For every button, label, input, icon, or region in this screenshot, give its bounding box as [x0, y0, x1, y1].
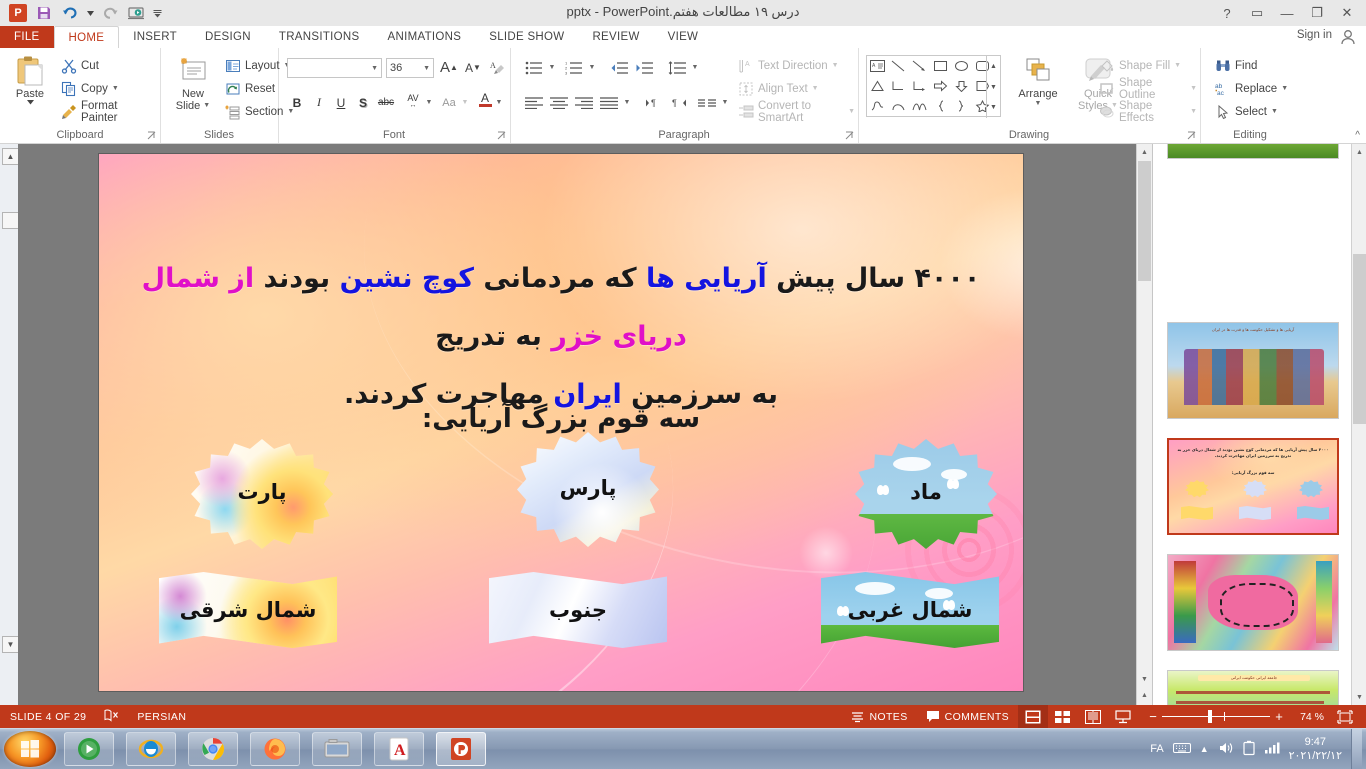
tab-slide-show[interactable]: SLIDE SHOW [475, 26, 578, 48]
zoom-slider[interactable]: − + [1138, 709, 1294, 724]
rail-scroll-up-button[interactable]: ▲ [2, 148, 19, 165]
arrange-caret-icon[interactable]: ▼ [1035, 100, 1042, 107]
font-color-label: A [481, 92, 489, 104]
font-dialog-launcher[interactable] [497, 131, 506, 140]
star-label-parth: پارت [238, 480, 287, 504]
notes-icon [851, 710, 864, 723]
slide-sorter-view-button[interactable] [1048, 705, 1078, 728]
editing-group-label: Editing [1200, 129, 1300, 141]
zoom-midpoint-tick [1224, 712, 1225, 721]
smartart-caret-icon[interactable]: ▼ [848, 108, 855, 115]
change-case-caret-icon[interactable]: ▼ [460, 92, 470, 113]
shape-outline-button[interactable]: Shape Outline ▼ [1096, 78, 1200, 99]
shape-effects-button[interactable]: Shape Effects ▼ [1096, 101, 1200, 122]
shapes-gallery-scrollbar[interactable]: ▲ ▼ ▼ [986, 56, 1000, 118]
restore-button[interactable]: ❐ [1302, 2, 1332, 24]
thumbnail-slide-3[interactable]: آریایی ها و تشکیل حکومت ها و قدرت ها در … [1167, 322, 1339, 419]
shape-elbow-connector[interactable] [888, 76, 909, 96]
battery-icon[interactable] [1243, 740, 1255, 759]
slides-group-label: Slides [160, 129, 278, 141]
columns-caret-icon[interactable]: ▼ [719, 92, 731, 113]
align-text-icon [738, 81, 754, 97]
slide-stage: ۴۰۰۰ سال پیش آریایی ها که مردمانی کوچ نش… [18, 144, 1152, 705]
shrink-font-label: A [465, 61, 473, 75]
tab-animations[interactable]: ANIMATIONS [374, 26, 476, 48]
shape-fill-button[interactable]: Shape Fill ▼ [1096, 55, 1184, 76]
line1-seg-2: که مردمانی [474, 263, 646, 294]
taskbar-powerpoint[interactable] [436, 732, 486, 766]
window-controls: ? ▭ — ❐ ✕ [1212, 2, 1362, 24]
ribbon-tab-bar: FILE HOME INSERT DESIGN TRANSITIONS ANIM… [0, 26, 1366, 49]
reset-icon [225, 81, 241, 97]
thumbnail-image: آریایی ها و تشکیل حکومت ها و قدرت ها در … [1168, 323, 1338, 418]
banner-shape-south[interactable]: جنوب [489, 572, 667, 648]
font-name-input[interactable]: ▼ [287, 58, 382, 78]
status-left: SLIDE 4 OF 29 PERSIAN [10, 705, 186, 728]
section-icon [225, 104, 241, 120]
zoom-level-label[interactable]: 74 % [1294, 711, 1330, 723]
zoom-track[interactable] [1162, 716, 1270, 717]
select-caret-icon[interactable]: ▼ [1271, 108, 1278, 115]
shape-arrow[interactable] [909, 56, 930, 76]
minimize-button[interactable]: — [1272, 2, 1302, 24]
cut-label: Cut [81, 60, 99, 72]
format-painter-label: Format Painter [81, 100, 157, 124]
thumbnail-subcaption: سه قوم بزرگ آریایی: [1175, 470, 1331, 476]
character-spacing-button[interactable]: AV ↔ [401, 90, 425, 111]
powerpoint-window: P درس ۱۹ مطالعات هفتم.pptx - PowerPoint [0, 0, 1366, 768]
star-label-pars: پارس [560, 476, 617, 500]
slide-scroll-thumb[interactable] [1138, 161, 1151, 281]
copy-icon [61, 81, 77, 97]
font-size-input[interactable]: 36 ▼ [386, 58, 434, 78]
comments-label: COMMENTS [945, 711, 1009, 723]
account-avatar-icon[interactable] [1338, 27, 1358, 47]
taskbar-file-explorer[interactable] [312, 732, 362, 766]
shape-scribble[interactable] [867, 96, 888, 116]
shapes-more-icon[interactable]: ▼ [987, 97, 1000, 118]
shape-oval[interactable] [951, 56, 972, 76]
svg-text:A: A [872, 63, 876, 69]
zoom-in-button[interactable]: + [1270, 709, 1288, 724]
align-text-caret-icon[interactable]: ▼ [812, 85, 819, 92]
justify-button[interactable] [597, 92, 621, 113]
smartart-icon [738, 104, 754, 120]
line-spacing-caret-icon[interactable]: ▼ [689, 57, 701, 78]
thumbnail-image [1168, 144, 1338, 158]
thumbnail-caption: ۴۰۰۰ سال پیش آریایی ها که مردمانی کوچ نش… [1175, 447, 1331, 459]
taskbar-mozilla-firefox[interactable] [250, 732, 300, 766]
font-color-button[interactable]: A [476, 89, 494, 110]
select-button[interactable]: Select ▼ [1212, 101, 1281, 122]
sign-in-link[interactable]: Sign in [1297, 29, 1332, 41]
clock-date: ۲۰۲۱/۲۲/۱۲ [1289, 749, 1342, 763]
new-slide-button[interactable]: New Slide ▼ [168, 56, 218, 112]
font-size-caret-icon[interactable]: ▼ [423, 65, 430, 72]
window-title: درس ۱۹ مطالعات هفتم.pptx - PowerPoint [0, 4, 1366, 20]
collapse-ribbon-button[interactable]: ^ [1355, 130, 1360, 141]
banner-shape-northwest[interactable]: شمال غربی [821, 572, 999, 648]
tab-transitions[interactable]: TRANSITIONS [265, 26, 374, 48]
thumbnail-slide-4[interactable]: ۴۰۰۰ سال پیش آریایی ها که مردمانی کوچ نش… [1167, 438, 1339, 535]
language-indicator-tray[interactable]: FA [1150, 743, 1163, 755]
font-size-value: 36 [390, 62, 423, 74]
taskbar-windows-media-player[interactable] [64, 732, 114, 766]
shape-rectangle[interactable] [930, 56, 951, 76]
italic-button[interactable]: I [309, 92, 329, 113]
paintbrush-icon [61, 104, 77, 120]
font-group-label: Font [278, 129, 510, 141]
thumbnail-slide-2[interactable] [1167, 144, 1339, 159]
taskbar-clock[interactable]: 9:47 ۲۰۲۱/۲۲/۱۲ [1289, 735, 1342, 763]
shapes-gallery[interactable]: A [866, 55, 1001, 117]
slide-scroll-bottom-group: ▼ ▲ [1137, 671, 1152, 705]
ribbon-group-slides: New Slide ▼ Layout ▼ Reset [160, 48, 279, 143]
thumbnail-slide-5[interactable] [1167, 554, 1339, 651]
cut-button[interactable]: Cut [58, 55, 102, 76]
text-direction-caret-icon[interactable]: ▼ [832, 62, 839, 69]
slide-line-1: ۴۰۰۰ سال پیش آریایی ها که مردمانی کوچ نش… [123, 250, 999, 366]
status-right: NOTES COMMENTS − [842, 705, 1360, 728]
taskbar-google-chrome[interactable] [188, 732, 238, 766]
rail-scroll-down-button[interactable]: ▼ [2, 636, 19, 653]
ribbon-group-clipboard: Paste Cut Copy ▼ Format Painte [0, 48, 161, 143]
svg-text:A: A [394, 742, 406, 759]
line1-seg-6: به تدریج [435, 321, 551, 352]
shape-arc[interactable] [909, 96, 930, 116]
scissors-icon [61, 58, 77, 74]
select-label: Select [1235, 106, 1267, 118]
drawing-dialog-launcher[interactable] [1187, 131, 1196, 140]
show-hidden-icons-button[interactable]: ▲ [1200, 744, 1209, 754]
thumbnail-image: جامعه ایرانی حکومت ایرانی [1168, 671, 1338, 705]
thumbnail-scroll-thumb[interactable] [1353, 254, 1366, 424]
line1-seg-3: کوچ نشین [340, 263, 474, 294]
shape-curve[interactable] [888, 96, 909, 116]
line1-seg-1: آریایی ها [646, 263, 767, 294]
replace-label: Replace [1235, 83, 1277, 95]
font-color-caret-icon[interactable]: ▼ [494, 92, 504, 113]
help-button[interactable]: ? [1212, 2, 1242, 24]
close-button[interactable]: ✕ [1332, 2, 1362, 24]
increase-indent-button[interactable] [632, 57, 656, 78]
network-icon[interactable] [1264, 741, 1280, 757]
thumbnail-image [1168, 555, 1338, 650]
numbering-button[interactable]: 123 [562, 57, 586, 78]
thumbnail-caption: جامعه ایرانی حکومت ایرانی [1198, 675, 1310, 681]
convert-to-smartart-button[interactable]: Convert to SmartArt ▼ [735, 101, 858, 122]
system-tray: FA ▲ 9:47 ۲۰۲۱/۲۲/۱۲ [1150, 729, 1366, 769]
new-slide-label-2: Slide [176, 100, 200, 112]
left-rail: ▲ ▼ [0, 144, 19, 705]
bold-button[interactable]: B [287, 92, 307, 113]
shape-line[interactable] [888, 56, 909, 76]
svg-text:ab: ab [1215, 83, 1223, 90]
ribbon-group-paragraph: ▼ 123 ▼ ▼ [510, 48, 859, 143]
reading-view-button[interactable] [1078, 705, 1108, 728]
shape-down-arrow[interactable] [951, 76, 972, 96]
svg-text:¶: ¶ [672, 98, 677, 108]
ribbon-group-editing: Find abac Replace ▼ Select ▼ Editing [1200, 48, 1300, 143]
status-bar: SLIDE 4 OF 29 PERSIAN NOTES COMMENTS [0, 705, 1366, 728]
align-right-button[interactable] [572, 92, 596, 113]
justify-caret-icon[interactable]: ▼ [621, 92, 633, 113]
svg-text:ac: ac [1217, 90, 1225, 97]
title-bar: P درس ۱۹ مطالعات هفتم.pptx - PowerPoint [0, 0, 1366, 26]
zoom-thumb[interactable] [1208, 710, 1212, 723]
tab-view[interactable]: VIEW [654, 26, 713, 48]
shape-textbox[interactable]: A [867, 56, 888, 76]
paragraph-dialog-launcher[interactable] [845, 131, 854, 140]
line1-seg-4: بودند [254, 263, 339, 294]
slide-vertical-scrollbar[interactable]: ▲ ▼ ▲ [1136, 144, 1152, 705]
find-label: Find [1235, 60, 1257, 72]
copy-button[interactable]: Copy ▼ [58, 78, 122, 99]
thumbnail-slide-6[interactable]: جامعه ایرانی حکومت ایرانی [1167, 670, 1339, 705]
taskbar-internet-explorer[interactable] [126, 732, 176, 766]
shape-outline-caret-icon[interactable]: ▼ [1190, 85, 1197, 92]
banner-label-south: جنوب [549, 598, 607, 622]
svg-text:3: 3 [565, 70, 568, 75]
font-name-caret-icon[interactable]: ▼ [371, 65, 378, 72]
ribbon-display-options-button[interactable]: ▭ [1242, 2, 1272, 24]
thumbnail-image: ۴۰۰۰ سال پیش آریایی ها که مردمانی کوچ نش… [1169, 440, 1337, 533]
slide-canvas[interactable]: ۴۰۰۰ سال پیش آریایی ها که مردمانی کوچ نش… [99, 154, 1023, 691]
binoculars-icon [1215, 58, 1231, 74]
shapes-scroll-down-icon[interactable]: ▼ [987, 77, 1000, 98]
fit-slide-to-window-button[interactable] [1330, 705, 1360, 728]
text-shadow-button[interactable]: S [353, 92, 373, 113]
bullets-button[interactable] [522, 57, 546, 78]
text-direction-button[interactable]: A Text Direction ▼ [735, 55, 842, 76]
clock-time: 9:47 [1305, 735, 1326, 749]
slide-previous-next-icon[interactable]: ▲ [1137, 687, 1152, 703]
slide-counter[interactable]: SLIDE 4 OF 29 [10, 711, 86, 723]
find-button[interactable]: Find [1212, 55, 1260, 76]
slideshow-view-button[interactable] [1108, 705, 1138, 728]
notes-button[interactable]: NOTES [842, 705, 916, 728]
convert-to-smartart-label: Convert to SmartArt [758, 100, 844, 124]
copy-label: Copy [81, 83, 108, 95]
reset-label: Reset [245, 83, 275, 95]
format-painter-button[interactable]: Format Painter [58, 101, 160, 122]
shape-right-arrow[interactable] [930, 76, 951, 96]
star-shape-pars[interactable]: پارس [517, 432, 659, 547]
thumbnail-pane-scrollbar[interactable]: ▲ ▼ [1351, 144, 1366, 705]
paste-dropdown-caret-icon [26, 100, 35, 105]
strikethrough-button[interactable]: abc [373, 92, 399, 113]
tab-review[interactable]: REVIEW [578, 26, 653, 48]
text-direction-icon: A [738, 58, 754, 74]
clipboard-dialog-launcher[interactable] [147, 131, 156, 140]
spellcheck-icon[interactable] [104, 709, 119, 725]
butterfly-icon [947, 479, 959, 489]
zoom-out-button[interactable]: − [1144, 709, 1162, 724]
shape-fill-icon [1099, 58, 1115, 74]
thumbnail-caption: آریایی ها و تشکیل حکومت ها و قدرت ها در … [1172, 327, 1334, 333]
ltr-text-direction-button[interactable]: ¶ [642, 92, 666, 113]
cloud-shape [855, 582, 895, 595]
star-shape-parth[interactable]: پارت [191, 439, 333, 549]
ribbon: Paste Cut Copy ▼ Format Painte [0, 48, 1366, 144]
thumbnail-scroll-down-icon[interactable]: ▼ [1352, 689, 1366, 705]
ribbon-group-font: ▼ 36 ▼ A ▲ A ▼ A B I U S abc AV [278, 48, 511, 143]
increase-font-size-button[interactable]: A ▲ [438, 57, 460, 78]
volume-icon[interactable] [1218, 741, 1234, 758]
copy-dropdown-caret-icon[interactable]: ▼ [112, 85, 119, 92]
slide-scroll-down-icon[interactable]: ▼ [1137, 671, 1152, 687]
layout-label: Layout [245, 60, 280, 72]
clipboard-group-label: Clipboard [0, 129, 160, 141]
line-spacing-button[interactable] [665, 57, 689, 78]
show-desktop-button[interactable] [1351, 729, 1362, 769]
rail-placeholder-button[interactable] [2, 212, 19, 229]
align-text-button[interactable]: Align Text ▼ [735, 78, 822, 99]
character-spacing-caret-icon[interactable]: ▼ [424, 92, 434, 113]
tab-file[interactable]: FILE [0, 26, 54, 48]
ribbon-group-drawing: A [858, 48, 1201, 143]
language-indicator[interactable]: PERSIAN [137, 711, 186, 723]
numbering-caret-icon[interactable]: ▼ [586, 57, 598, 78]
slide-subheading[interactable]: سه قوم بزرگ آریایی: [123, 404, 999, 434]
align-text-label: Align Text [758, 83, 808, 95]
decrease-font-size-button[interactable]: A ▼ [462, 57, 484, 78]
banner-label-northwest: شمال غربی [848, 598, 973, 622]
keyboard-icon[interactable] [1173, 742, 1191, 757]
slide-thumbnail-pane[interactable]: آریایی ها و تشکیل حکومت ها و قدرت ها در … [1152, 144, 1366, 705]
slide-scroll-up-icon[interactable]: ▲ [1137, 144, 1152, 160]
shape-elbow-arrow[interactable] [909, 76, 930, 96]
tab-insert[interactable]: INSERT [119, 26, 191, 48]
arrange-label: Arrange [1018, 88, 1057, 100]
columns-button[interactable] [695, 92, 719, 113]
workspace: ▲ ▼ ۴۰۰۰ سال پیش آریایی ها که مردمانی کو… [0, 144, 1366, 705]
new-slide-caret-icon[interactable]: ▼ [203, 100, 210, 112]
svg-text:¶: ¶ [651, 98, 656, 108]
normal-view-button[interactable] [1018, 705, 1048, 728]
replace-icon: abac [1215, 81, 1231, 97]
new-slide-label-1: New [182, 88, 204, 100]
shape-fill-label: Shape Fill [1119, 60, 1170, 72]
align-left-button[interactable] [522, 92, 546, 113]
cursor-icon [1215, 104, 1231, 120]
notes-label: NOTES [869, 711, 907, 723]
arrange-button[interactable]: Arrange ▼ [1010, 56, 1066, 107]
comment-icon [926, 710, 940, 723]
shape-outline-icon [1099, 81, 1115, 97]
svg-text:A: A [490, 61, 496, 70]
replace-caret-icon[interactable]: ▼ [1281, 85, 1288, 92]
tab-home[interactable]: HOME [54, 26, 120, 49]
star-shape-mad[interactable]: ماد [855, 439, 997, 549]
underline-button[interactable]: U [331, 92, 351, 113]
banner-label-northeast: شمال شرقی [180, 598, 317, 622]
grow-font-label: A [440, 59, 450, 76]
shapes-scroll-up-icon[interactable]: ▲ [987, 56, 1000, 77]
cloud-shape [893, 457, 931, 471]
drawing-group-label: Drawing [858, 129, 1200, 141]
windows-taskbar: A FA ▲ 9:47 ۲۰۲۱/۲۲/۱۲ [0, 728, 1366, 769]
shape-effects-label: Shape Effects [1119, 100, 1186, 124]
rtl-text-direction-button[interactable]: ¶ [667, 92, 691, 113]
paste-button[interactable]: Paste [6, 54, 54, 105]
reset-button[interactable]: Reset [222, 78, 278, 99]
comments-button[interactable]: COMMENTS [917, 705, 1018, 728]
butterfly-icon [877, 485, 889, 495]
shape-effects-caret-icon[interactable]: ▼ [1190, 108, 1197, 115]
slide-paragraph[interactable]: ۴۰۰۰ سال پیش آریایی ها که مردمانی کوچ نش… [123, 250, 999, 424]
paste-label: Paste [16, 88, 44, 100]
shape-right-brace[interactable] [951, 96, 972, 116]
taskbar-adobe-reader[interactable]: A [374, 732, 424, 766]
align-center-button[interactable] [547, 92, 571, 113]
bullets-caret-icon[interactable]: ▼ [546, 57, 558, 78]
shape-effects-icon [1099, 104, 1115, 120]
clear-formatting-button[interactable]: A [486, 57, 508, 78]
paragraph-group-label: Paragraph [510, 129, 858, 141]
replace-button[interactable]: abac Replace ▼ [1212, 78, 1291, 99]
shape-fill-caret-icon[interactable]: ▼ [1174, 62, 1181, 69]
decrease-indent-button[interactable] [607, 57, 631, 78]
shape-left-brace[interactable] [930, 96, 951, 116]
svg-text:A: A [745, 61, 750, 68]
ribbon-tabs: FILE HOME INSERT DESIGN TRANSITIONS ANIM… [0, 26, 712, 48]
banner-shape-northeast[interactable]: شمال شرقی [159, 572, 337, 648]
line1-seg-0: ۴۰۰۰ سال پیش [767, 263, 981, 294]
shape-triangle[interactable] [867, 76, 888, 96]
layout-icon [225, 58, 241, 74]
text-direction-label: Text Direction [758, 60, 828, 72]
change-case-button[interactable]: Aa [437, 92, 461, 113]
thumbnail-scroll-up-icon[interactable]: ▲ [1352, 144, 1366, 160]
start-button[interactable] [4, 731, 56, 767]
tab-design[interactable]: DESIGN [191, 26, 265, 48]
shape-outline-label: Shape Outline [1119, 77, 1186, 101]
star-label-mad: ماد [910, 480, 942, 504]
